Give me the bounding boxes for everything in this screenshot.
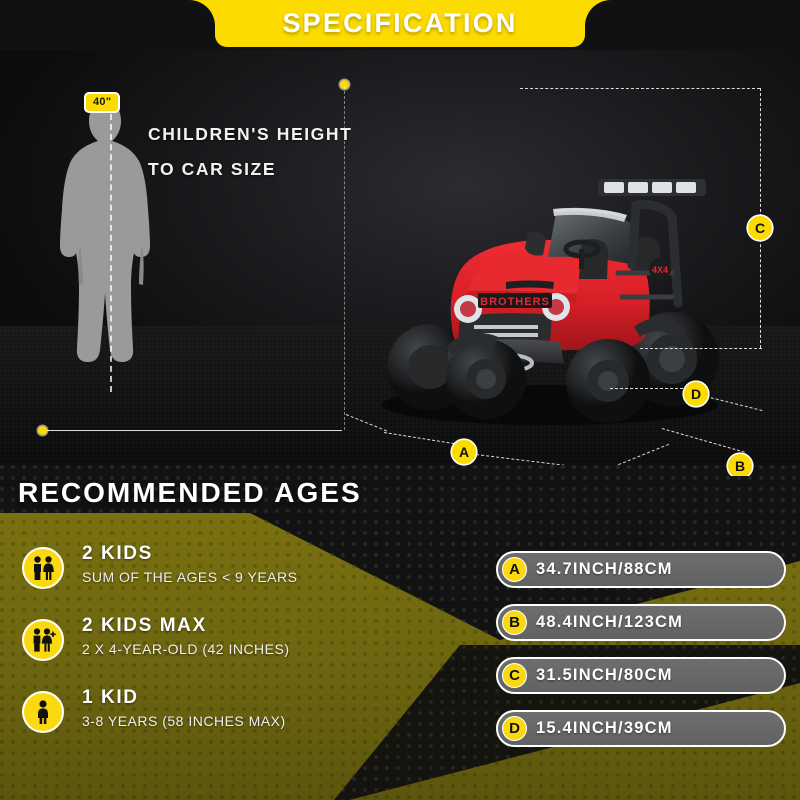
page-title: SPECIFICATION bbox=[282, 8, 517, 39]
dimension-legend-list: A 34.7INCH/88CM B 48.4INCH/123CM C 31.5I… bbox=[496, 551, 786, 763]
dimension-pill-b: B 48.4INCH/123CM bbox=[496, 604, 786, 641]
svg-text:4X4: 4X4 bbox=[652, 265, 668, 275]
marker-b: B bbox=[728, 454, 752, 476]
floor-baseline bbox=[42, 430, 342, 431]
age-row: 2 KIDS SUM OF THE AGES < 9 YEARS bbox=[18, 543, 478, 615]
recommended-ages-panel: RECOMMENDED AGES 2 KIDS bbox=[0, 465, 800, 800]
height-centerline bbox=[110, 114, 112, 392]
specification-infographic: SPECIFICATION 40" CHILDREN'S HEIGHT TO C… bbox=[0, 0, 800, 800]
header-bar: SPECIFICATION bbox=[0, 0, 800, 50]
callout-c-bottom bbox=[640, 348, 762, 349]
headline-line-2: TO CAR SIZE bbox=[148, 159, 276, 180]
headline-line-1: CHILDREN'S HEIGHT bbox=[148, 124, 352, 145]
baseline-dot-left bbox=[38, 426, 47, 435]
section-title: RECOMMENDED AGES bbox=[18, 477, 362, 509]
height-badge-40: 40" bbox=[84, 92, 120, 113]
pill-value-c: 31.5INCH/80CM bbox=[536, 666, 673, 685]
dimension-pill-a: A 34.7INCH/88CM bbox=[496, 551, 786, 588]
pill-value-d: 15.4INCH/39CM bbox=[536, 719, 673, 738]
banner-corner-right bbox=[585, 0, 611, 26]
two-children-plus-icon bbox=[22, 619, 64, 661]
svg-text:BROTHERS: BROTHERS bbox=[480, 296, 550, 308]
age-row-detail: 3-8 YEARS (58 INCHES MAX) bbox=[82, 713, 286, 729]
two-children-icon bbox=[22, 547, 64, 589]
product-photo-panel: 40" CHILDREN'S HEIGHT TO CAR SIZE bbox=[0, 36, 800, 476]
age-row: 1 KID 3-8 YEARS (58 INCHES MAX) bbox=[18, 687, 478, 759]
dimension-pill-c: C 31.5INCH/80CM bbox=[496, 657, 786, 694]
pill-marker-a: A bbox=[502, 557, 527, 582]
age-row-detail: SUM OF THE AGES < 9 YEARS bbox=[82, 569, 297, 585]
callout-c-top bbox=[520, 88, 760, 89]
one-child-icon bbox=[22, 691, 64, 733]
marker-d: D bbox=[684, 382, 708, 406]
marker-a: A bbox=[452, 440, 476, 464]
pill-marker-c: C bbox=[502, 663, 527, 688]
age-row-title: 1 KID bbox=[82, 687, 139, 709]
specification-banner: SPECIFICATION bbox=[215, 0, 585, 47]
pill-marker-d: D bbox=[502, 716, 527, 741]
age-rows-list: 2 KIDS SUM OF THE AGES < 9 YEARS bbox=[18, 543, 478, 759]
pill-marker-b: B bbox=[502, 610, 527, 635]
age-row-title: 2 KIDS bbox=[82, 543, 153, 565]
age-row-detail: 2 X 4-YEAR-OLD (42 INCHES) bbox=[82, 641, 290, 657]
banner-corner-left bbox=[189, 0, 215, 26]
pill-value-a: 34.7INCH/88CM bbox=[536, 560, 673, 579]
age-row-title: 2 KIDS MAX bbox=[82, 615, 207, 637]
callout-d-line bbox=[610, 388, 688, 389]
pill-value-b: 48.4INCH/123CM bbox=[536, 613, 683, 632]
age-row: 2 KIDS MAX 2 X 4-YEAR-OLD (42 INCHES) bbox=[18, 615, 478, 687]
marker-c: C bbox=[748, 216, 772, 240]
dimension-pill-d: D 15.4INCH/39CM bbox=[496, 710, 786, 747]
